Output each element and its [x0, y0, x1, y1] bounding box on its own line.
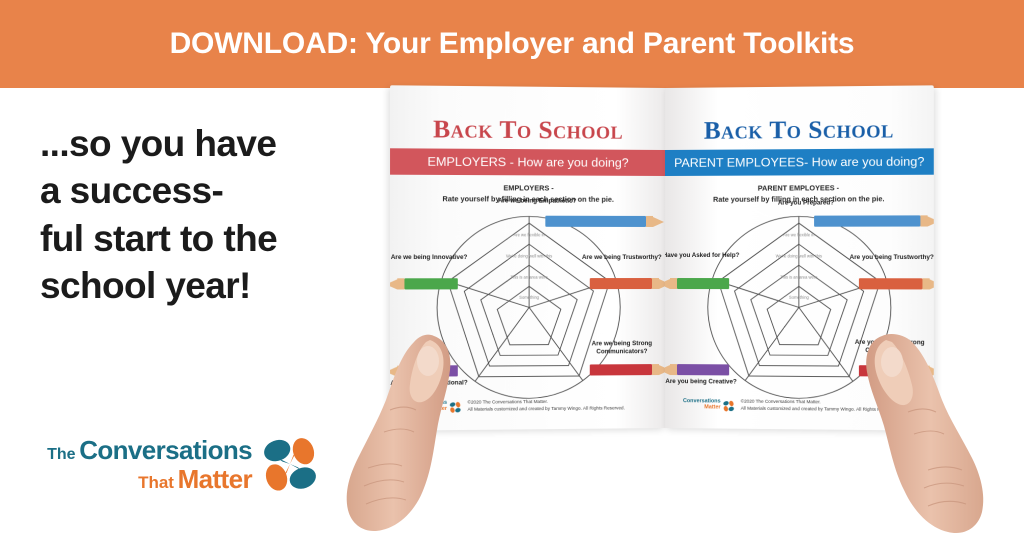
left-pencil-bottom-right — [590, 364, 665, 376]
right-pencil-bottom-left — [665, 364, 729, 375]
brand-logo-line-1: The Conversations — [30, 437, 252, 463]
brand-logo[interactable]: The Conversations That Matter — [30, 418, 330, 510]
right-pencil-right-label: Are you being Trustworthy? — [849, 254, 934, 262]
right-page-band: PARENT EMPLOYEES- How are you doing? — [665, 148, 934, 176]
pinwheel-conversation-mark-icon — [258, 432, 322, 496]
svg-text:This is an area were: This is an area were — [780, 275, 818, 280]
right-pencil-right — [859, 278, 934, 289]
brand-logo-that: That — [138, 473, 174, 492]
right-page-heading: Back To School — [665, 116, 934, 146]
right-page-band-label: PARENT EMPLOYEES- How are you doing? — [674, 154, 924, 169]
svg-text:Something: Something — [788, 295, 808, 300]
left-page-band-label: EMPLOYERS - How are you doing? — [427, 155, 628, 170]
right-pencil-left — [665, 278, 729, 289]
left-pencil-bottom-right-label: Are we being Strong Communicators? — [580, 340, 664, 357]
brand-logo-matter: Matter — [178, 464, 252, 494]
right-pencil-bottom-left-label: Are you being Creative? — [665, 378, 743, 387]
tagline-line-1: ...so you have — [40, 120, 360, 167]
brand-logo-conversations: Conversations — [79, 435, 252, 465]
right-pencil-top-label: Are you Prepared? — [763, 199, 848, 208]
left-pencil-right — [590, 278, 665, 289]
left-page-heading: Back To School — [390, 116, 665, 146]
left-page-copyright: ©2020 The Conversations That Matter. All… — [467, 399, 624, 414]
svg-text:Are we flexible in: Are we flexible in — [513, 233, 545, 238]
tagline-line-4: school year! — [40, 262, 360, 309]
right-pencil-left-label: Have you Asked for Help? — [665, 252, 743, 260]
left-pencil-top — [545, 216, 664, 227]
download-banner: DOWNLOAD: Your Employer and Parent Toolk… — [0, 0, 1024, 88]
right-page-footer-logo: Conversations Matter — [683, 399, 736, 412]
left-page-band: EMPLOYERS - How are you doing? — [390, 148, 665, 176]
brand-logo-wordmark: The Conversations That Matter — [30, 437, 252, 492]
right-pencil-top — [814, 215, 934, 226]
left-pencil-left-label: Are we being Innovative? — [390, 254, 472, 262]
left-pencil-left — [390, 278, 458, 289]
booklet-spread: Back To School EMPLOYERS - How are you d… — [380, 88, 940, 488]
svg-text:This is an area were: This is an area were — [510, 275, 548, 280]
page-title: ...so you have a success- ful start to t… — [40, 120, 360, 309]
pinwheel-conversation-mark-icon — [723, 399, 736, 412]
left-pencil-right-label: Are we being Trustworthy? — [580, 254, 664, 262]
svg-text:Something: Something — [519, 295, 540, 300]
left-pencil-top-label: Are we being Empathetic? — [495, 197, 580, 206]
banner-title: DOWNLOAD: Your Employer and Parent Toolk… — [170, 27, 855, 61]
left-copyright-line-2: All Materials customized and created by … — [467, 405, 624, 413]
tagline-line-2: a success- — [40, 167, 360, 214]
tagline-block: ...so you have a success- ful start to t… — [40, 120, 360, 309]
svg-text:We're doing well with this: We're doing well with this — [775, 254, 821, 259]
brand-logo-line-2: That Matter — [30, 466, 252, 492]
tagline-line-3: ful start to the — [40, 215, 360, 262]
right-hand-holding-booklet — [842, 326, 992, 541]
right-footer-logo-line-2: Matter — [683, 405, 721, 411]
svg-text:We're doing well with this: We're doing well with this — [505, 254, 551, 259]
svg-text:Are we flexible in: Are we flexible in — [783, 232, 814, 237]
brand-logo-the: The — [47, 446, 75, 463]
left-hand-holding-booklet — [338, 328, 478, 538]
